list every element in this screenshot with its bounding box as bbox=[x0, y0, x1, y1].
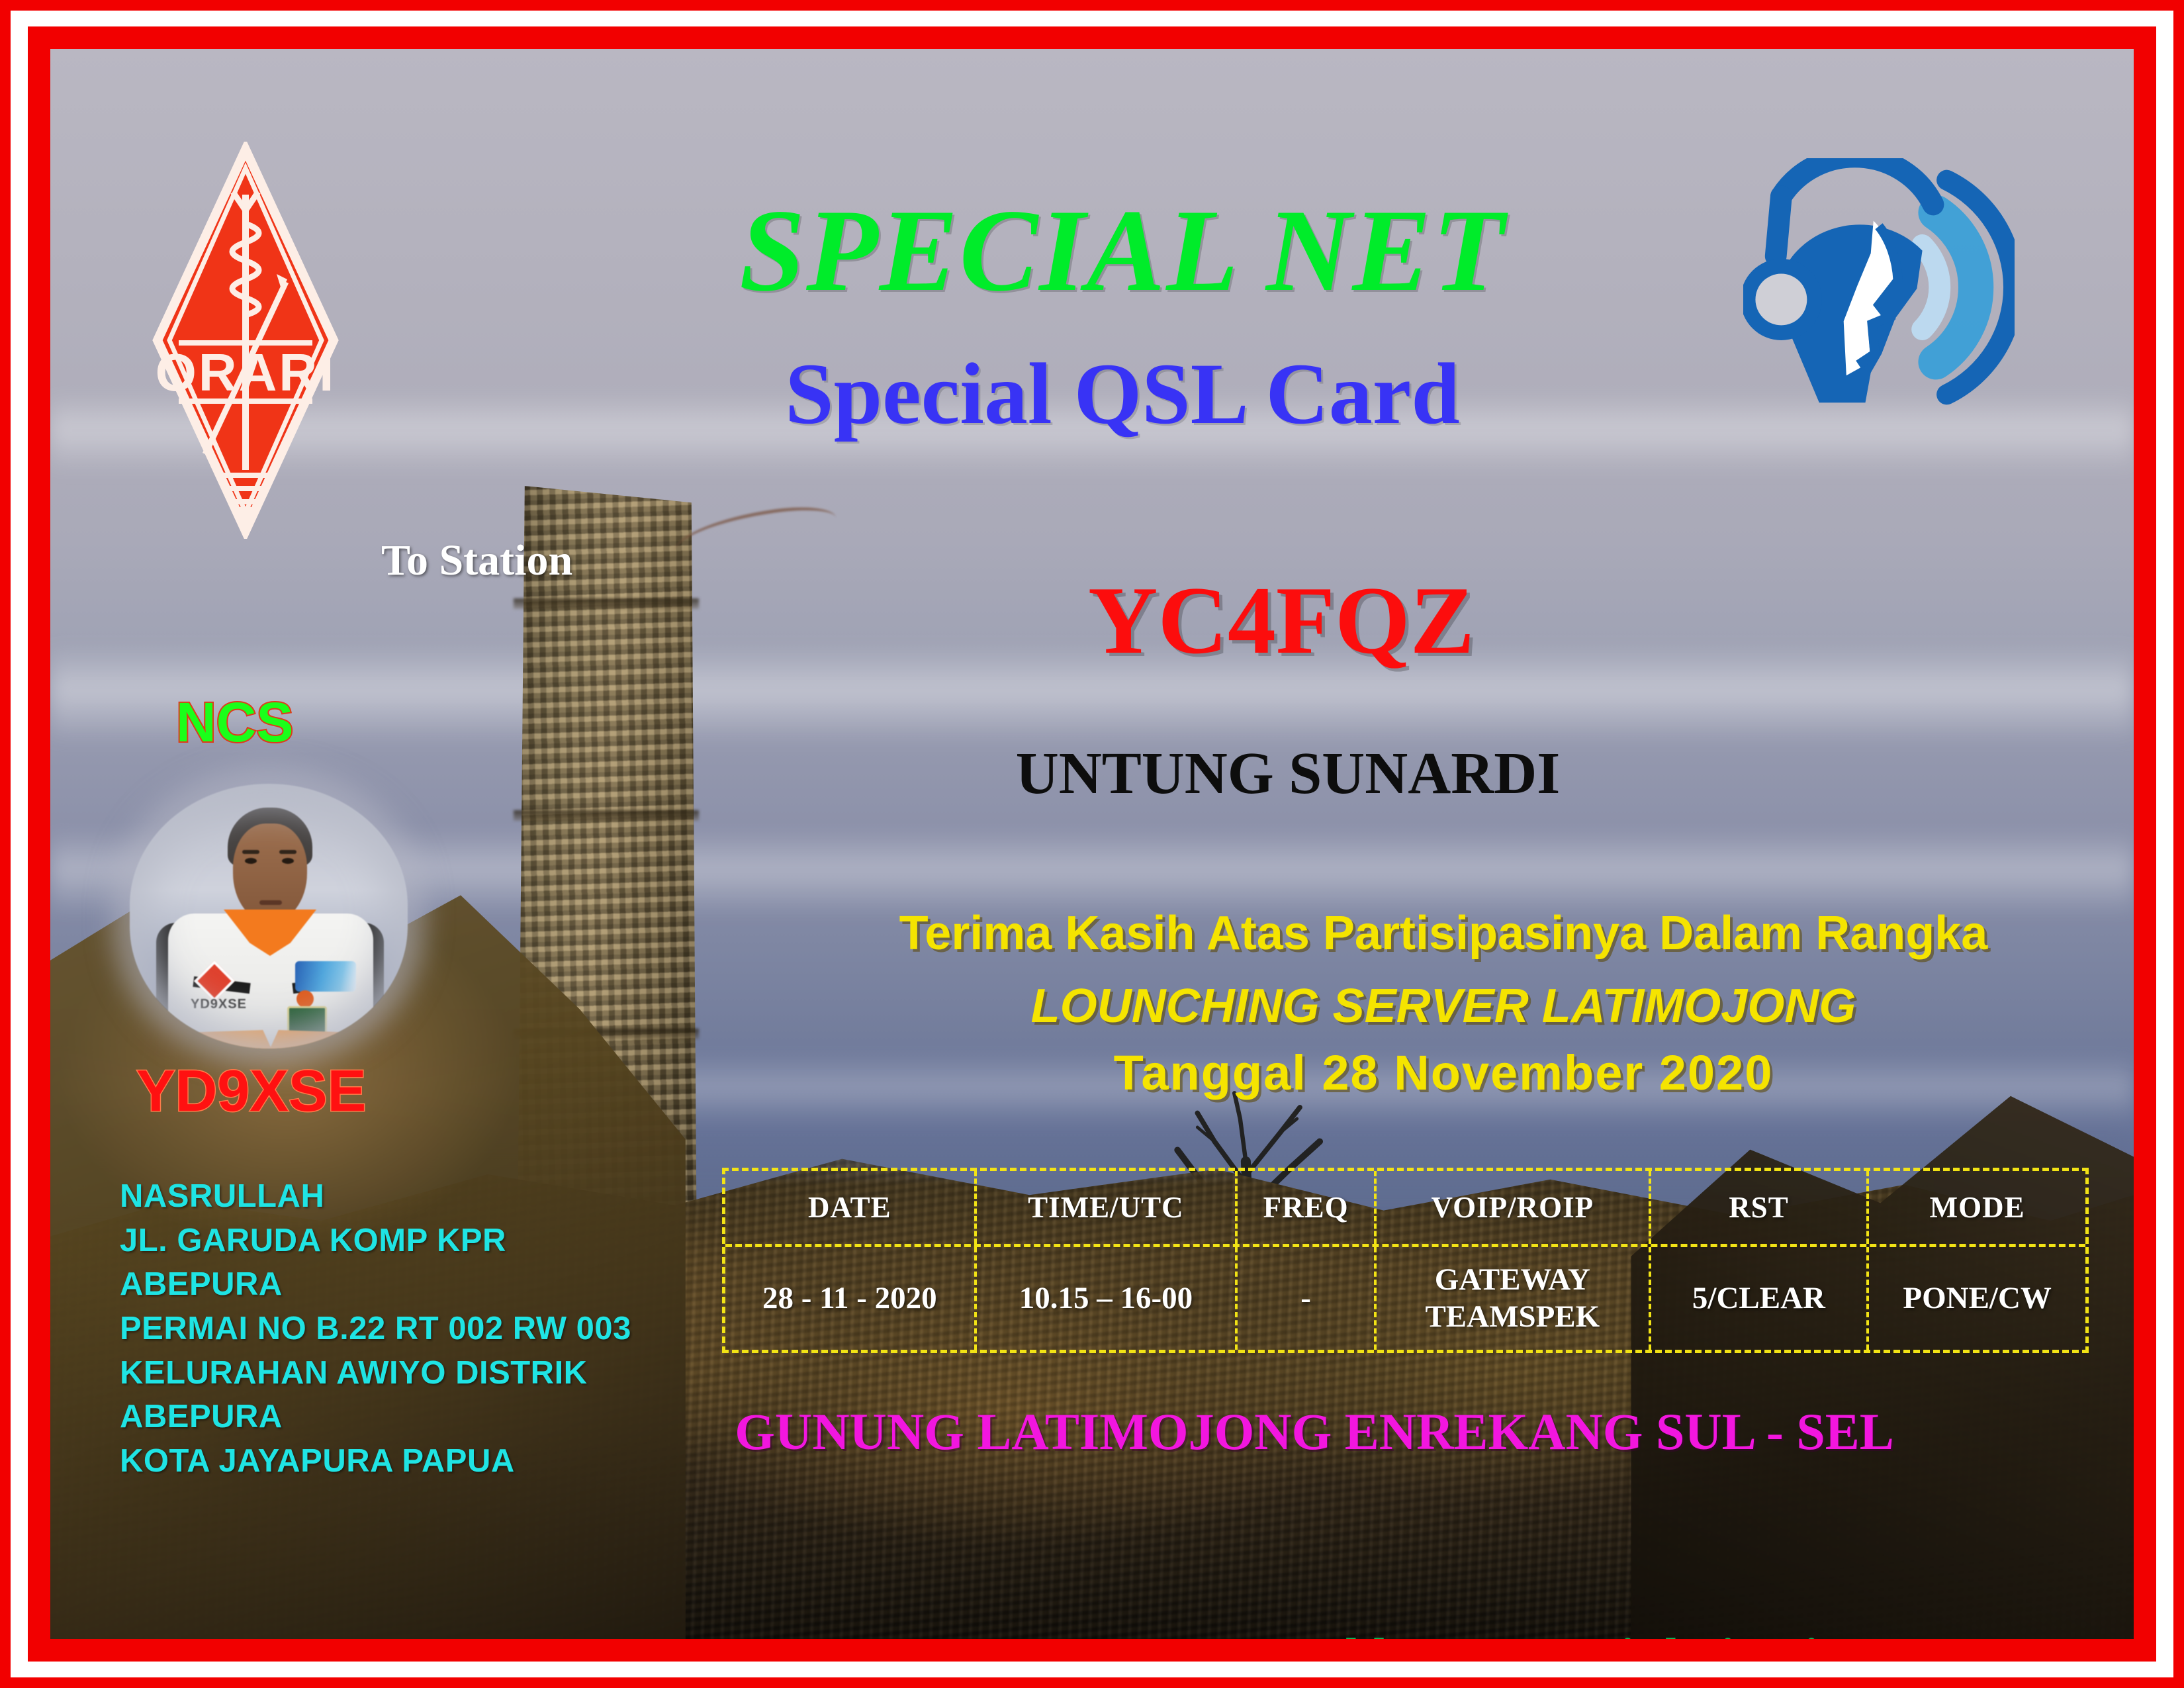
cell-voip-roip: GATEWAY TEAMSPEK bbox=[1377, 1247, 1651, 1350]
address-line: ABEPURA bbox=[120, 1262, 715, 1307]
table-header-row: DATE TIME/UTC FREQ VOIP/ROIP RST MODE bbox=[725, 1171, 2085, 1244]
ncs-label: NCS bbox=[176, 694, 293, 750]
launch-line: LOUNCHING SERVER LATIMOJONG bbox=[785, 982, 2102, 1030]
cell-date: 28 - 11 - 2020 bbox=[725, 1247, 977, 1350]
cell-mode: PONE/CW bbox=[1869, 1247, 2085, 1350]
to-station-label: To Station bbox=[381, 536, 572, 586]
qso-log-table: DATE TIME/UTC FREQ VOIP/ROIP RST MODE 28… bbox=[722, 1168, 2089, 1353]
card-photo-area: ORARI SPECIAL bbox=[50, 49, 2134, 1639]
col-header-time-utc: TIME/UTC bbox=[977, 1171, 1238, 1244]
col-header-freq: FREQ bbox=[1238, 1171, 1377, 1244]
qsl-card-frame: ORARI SPECIAL bbox=[0, 0, 2184, 1688]
motto-text: "AMATIR RADIO ADALAH PROGRESIVE" bbox=[126, 1634, 1115, 1639]
pillar-band bbox=[514, 810, 699, 821]
table-row: 28 - 11 - 2020 10.15 – 16-00 - GATEWAY T… bbox=[725, 1244, 2085, 1350]
address-line: PERMAI NO B.22 RT 002 RW 003 bbox=[120, 1307, 715, 1351]
address-line: KELURAHAN AWIYO DISTRIK bbox=[120, 1351, 715, 1395]
operator-name: UNTUNG SUNARDI bbox=[831, 744, 1745, 804]
orari-logo-text: ORARI bbox=[156, 343, 336, 402]
address-line: NASRULLAH bbox=[120, 1174, 715, 1219]
orari-logo: ORARI bbox=[150, 142, 341, 539]
web-address-text: Address : amatir.latimojong.com bbox=[1295, 1631, 1999, 1639]
address-line: ABEPURA bbox=[120, 1395, 715, 1439]
ncs-callsign: YD9XSE bbox=[136, 1062, 366, 1120]
address-line: KOTA JAYAPURA PAPUA bbox=[120, 1439, 715, 1483]
page-subtitle: Special QSL Card bbox=[474, 350, 1771, 438]
location-line: GUNUNG LATIMOJONG ENREKANG SUL - SEL bbox=[686, 1406, 1943, 1458]
ncs-operator-photo: YD9XSE bbox=[130, 784, 408, 1049]
address-block: NASRULLAH JL. GARUDA KOMP KPR ABEPURA PE… bbox=[120, 1174, 715, 1483]
thanks-line: Terima Kasih Atas Partisipasinya Dalam R… bbox=[785, 910, 2102, 957]
event-date-line: Tanggal 28 November 2020 bbox=[785, 1049, 2102, 1098]
page-title: SPECIAL NET bbox=[474, 191, 1771, 309]
cell-time-utc: 10.15 – 16-00 bbox=[977, 1247, 1238, 1350]
col-header-rst: RST bbox=[1651, 1171, 1870, 1244]
address-line: JL. GARUDA KOMP KPR bbox=[120, 1219, 715, 1263]
col-header-voip-roip: VOIP/ROIP bbox=[1377, 1171, 1651, 1244]
col-header-date: DATE bbox=[725, 1171, 977, 1244]
cell-freq: - bbox=[1238, 1247, 1377, 1350]
station-callsign: YC4FQZ bbox=[931, 572, 1632, 669]
cell-rst: 5/CLEAR bbox=[1651, 1247, 1870, 1350]
col-header-mode: MODE bbox=[1869, 1171, 2085, 1244]
photo-vignette bbox=[130, 784, 408, 1049]
pillar-band bbox=[514, 598, 699, 609]
headset-operator-logo bbox=[1743, 158, 2015, 416]
